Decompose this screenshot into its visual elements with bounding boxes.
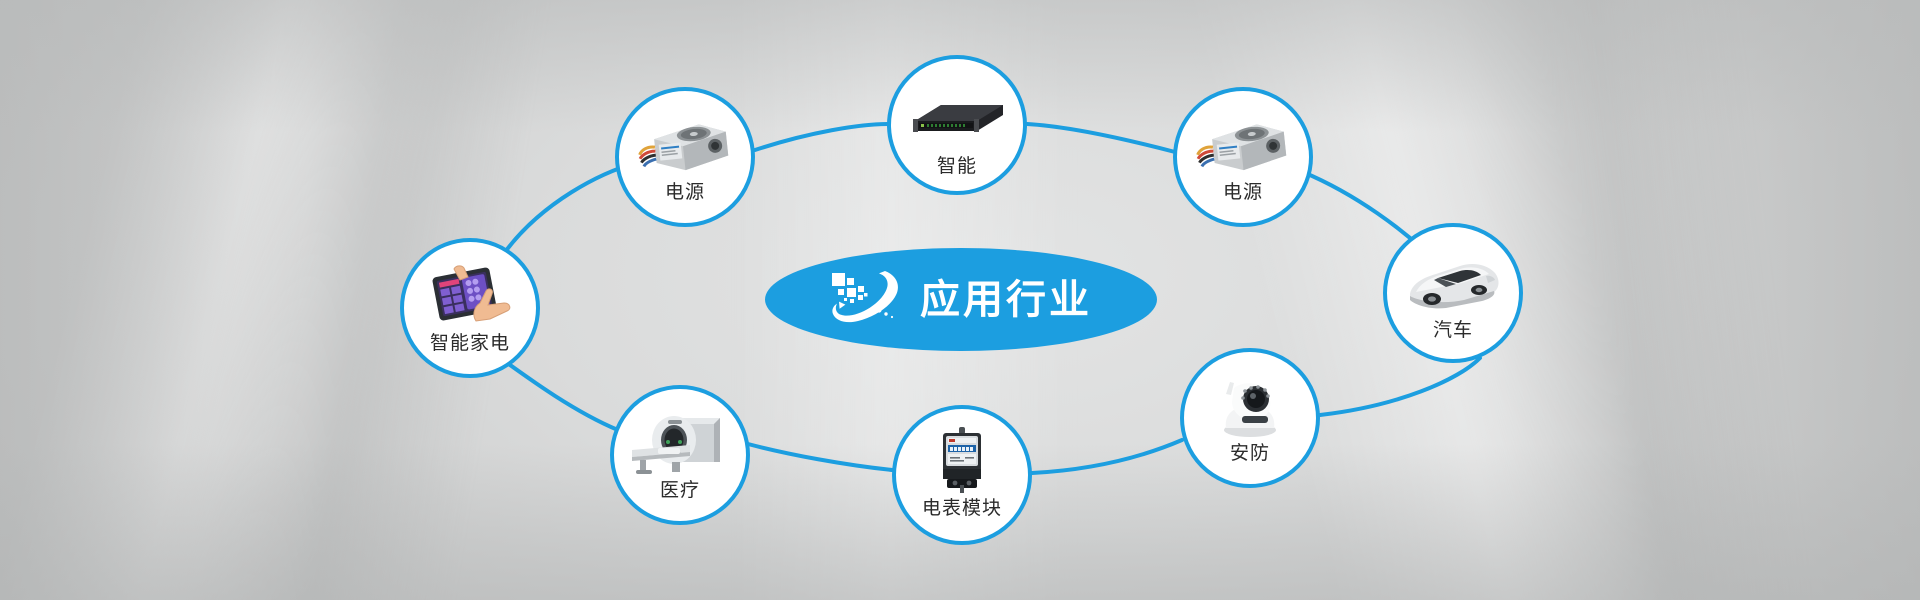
electric-meter-icon [896,409,1028,499]
node-label: 电源 [1223,183,1263,202]
tablet-touch-icon [404,242,536,334]
center-badge[interactable]: 应用行业 [765,248,1157,351]
node-security[interactable]: 安防 [1180,348,1320,488]
node-label: 汽车 [1433,321,1473,340]
node-automotive[interactable]: 汽车 [1383,223,1523,363]
mri-scanner-icon [614,389,746,481]
node-power-right[interactable]: 电源 [1173,87,1313,227]
node-medical[interactable]: 医疗 [610,385,750,525]
node-label: 医疗 [660,481,700,500]
node-label: 电表模块 [922,499,1002,518]
rack-server-icon [891,59,1023,157]
badge-title: 应用行业 [920,280,1092,320]
pc-power-supply-icon [1177,91,1309,183]
banner-stage: 智能家电 [0,0,1920,600]
node-power-left[interactable]: 电源 [615,87,755,227]
node-intelligent[interactable]: 智能 [887,55,1027,195]
node-meter[interactable]: 电表模块 [892,405,1032,545]
node-label: 智能 [937,157,977,176]
node-label: 电源 [665,183,705,202]
ip-camera-icon [1184,352,1316,444]
node-home-appliance[interactable]: 智能家电 [400,238,540,378]
orbit-pixel-swoosh-icon [830,269,904,331]
node-label: 安防 [1230,444,1270,463]
sports-car-icon [1387,227,1519,321]
node-label: 智能家电 [430,334,510,353]
pc-power-supply-icon [619,91,751,183]
